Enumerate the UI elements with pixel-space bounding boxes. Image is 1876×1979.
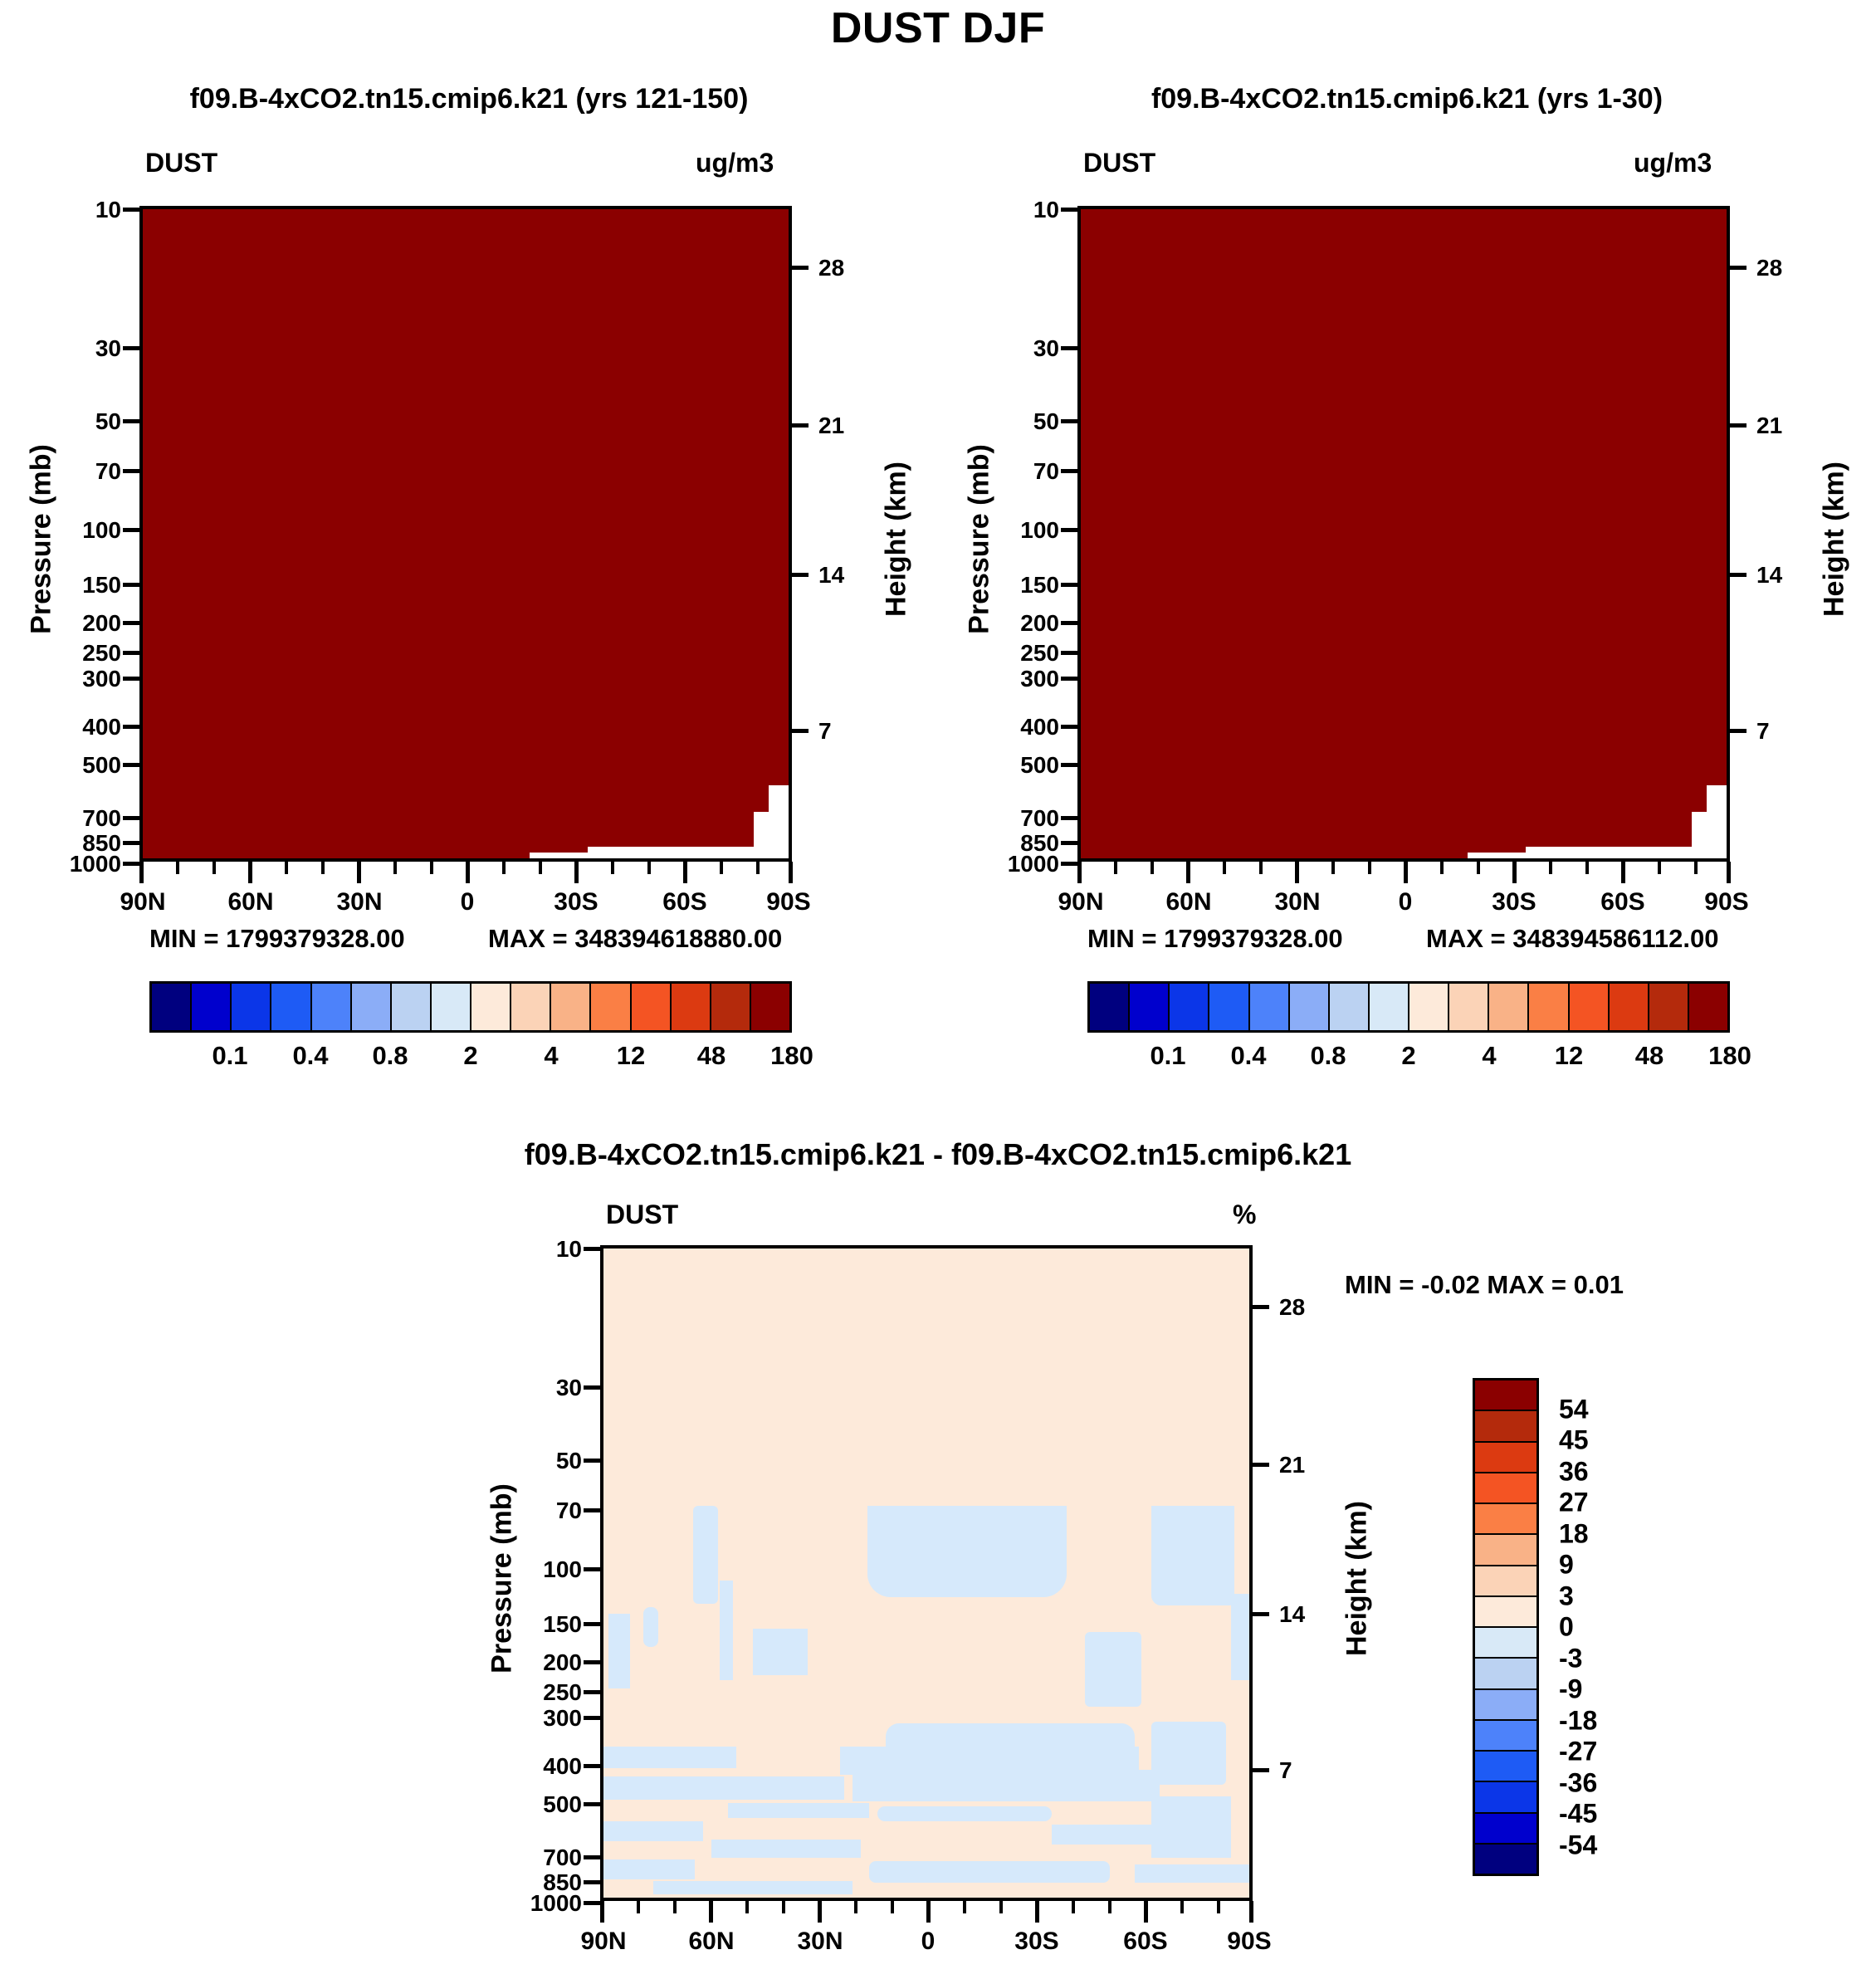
y2tick-mark <box>790 729 809 733</box>
xtick-minor <box>999 1901 1003 1913</box>
xtick-90S: 90S <box>1704 888 1748 916</box>
negative-anomaly-patch <box>603 1747 736 1768</box>
ytick-70: 70 <box>988 458 1059 485</box>
ytick-mark <box>1061 621 1079 625</box>
xtick-90N: 90N <box>580 1928 626 1956</box>
negative-anomaly-patch <box>1151 1722 1226 1785</box>
xtick-minor <box>1223 862 1226 874</box>
colorbar-boundary-label: 27 <box>1559 1488 1589 1518</box>
negative-anomaly-patch <box>753 1629 808 1675</box>
xtick-minor <box>720 862 723 874</box>
colorbar-cell-14 <box>1649 984 1689 1030</box>
cbar-label: 0.4 <box>292 1041 328 1071</box>
panel-difference: f09.B-4xCO2.tn15.cmip6.k21 - f09.B-4xCO2… <box>0 1112 1876 1979</box>
xtick-minor <box>745 1901 749 1913</box>
ytick-mark <box>123 583 141 587</box>
ytick-mark <box>123 841 141 845</box>
ytick-400: 400 <box>501 1753 582 1780</box>
missing-data-wedge <box>1707 785 1727 858</box>
ytick-mark <box>1061 677 1079 681</box>
xtick-minor <box>430 862 433 874</box>
xtick-90S: 90S <box>1227 1928 1271 1956</box>
xtick-30S: 30S <box>554 888 598 916</box>
colorbar-cell-5 <box>1290 984 1330 1030</box>
cbar-label: 0.1 <box>212 1041 247 1071</box>
y2tick-28: 28 <box>1756 255 1815 281</box>
xtick-minor <box>1549 862 1552 874</box>
ytick-mark <box>584 1901 602 1905</box>
ytick-mark <box>123 651 141 655</box>
ytick-mark <box>584 1567 602 1571</box>
ytick-10: 10 <box>511 1236 582 1263</box>
colorbar-boundary-label: 54 <box>1559 1394 1589 1424</box>
ytick-30: 30 <box>50 335 121 362</box>
colorbar-cell-1 <box>1475 1411 1536 1442</box>
panel-difference-minmax: MIN = -0.02 MAX = 0.01 <box>1345 1270 1624 1300</box>
panel-top-left-y2label: Height (km) <box>881 415 913 664</box>
xtick-minor <box>393 862 397 874</box>
negative-anomaly-patch <box>711 1840 861 1858</box>
colorbar-cell-6 <box>1475 1566 1536 1597</box>
ytick-mark <box>123 763 141 767</box>
y2tick-mark <box>1251 1305 1269 1309</box>
colorbar-cell-8 <box>1409 984 1449 1030</box>
colorbar-cell-11 <box>591 984 631 1030</box>
ytick-700: 700 <box>40 805 121 832</box>
ytick-400: 400 <box>978 714 1059 740</box>
xtick-mark <box>600 1901 604 1923</box>
xtick-minor <box>321 862 325 874</box>
colorbar-cell-10 <box>1475 1690 1536 1721</box>
negative-anomaly-patch <box>608 1614 630 1688</box>
negative-anomaly-patch <box>1231 1594 1253 1680</box>
ytick-500: 500 <box>978 752 1059 779</box>
cbar-label: 180 <box>770 1041 813 1071</box>
negative-anomaly-patch <box>1151 1796 1231 1858</box>
ytick-300: 300 <box>40 666 121 692</box>
cbar-label: 48 <box>1635 1041 1663 1071</box>
ytick-300: 300 <box>978 666 1059 692</box>
xtick-mark <box>683 862 687 883</box>
colorbar-cell-8 <box>471 984 511 1030</box>
panel-top-left-title: f09.B-4xCO2.tn15.cmip6.k21 (yrs 121-150) <box>0 83 938 115</box>
ytick-mark <box>584 1385 602 1390</box>
y2tick-21: 21 <box>1756 413 1815 439</box>
xtick-90N: 90N <box>1058 888 1103 916</box>
y2tick-mark <box>1251 1612 1269 1616</box>
xtick-minor <box>285 862 288 874</box>
xtick-minor <box>963 1901 966 1913</box>
ytick-mark <box>584 1880 602 1884</box>
ytick-70: 70 <box>50 458 121 485</box>
xtick-mark <box>709 1901 713 1923</box>
y2tick-mark <box>1728 266 1747 270</box>
ytick-mark <box>584 1855 602 1859</box>
ytick-mark <box>584 1247 602 1251</box>
xtick-60S: 60S <box>662 888 706 916</box>
panel-top-right-ylabel: Pressure (mb) <box>964 415 996 664</box>
xtick-minor <box>1331 862 1335 874</box>
xtick-minor <box>673 1901 677 1913</box>
cbar-label: 0.4 <box>1230 1041 1266 1071</box>
negative-anomaly-patch <box>720 1581 733 1680</box>
ytick-mark <box>1061 469 1079 473</box>
ytick-mark <box>123 816 141 820</box>
panel-difference-ylabel: Pressure (mb) <box>486 1454 519 1703</box>
xtick-mark <box>1621 862 1625 883</box>
xtick-mark <box>1512 862 1517 883</box>
xtick-mark <box>789 862 793 883</box>
colorbar-cell-13 <box>1475 1782 1536 1813</box>
xtick-mark <box>574 862 579 883</box>
negative-anomaly-patch <box>1085 1632 1141 1707</box>
ytick-mark <box>584 1690 602 1694</box>
xtick-minor <box>1477 862 1480 874</box>
colorbar-cell-4 <box>1250 984 1290 1030</box>
y2tick-mark <box>790 573 809 577</box>
panel-top-right-min: MIN = 1799379328.00 <box>1087 924 1343 954</box>
xtick-minor <box>539 862 542 874</box>
panel-top-right-var-label: DUST <box>1083 148 1155 178</box>
colorbar-boundary-label: -3 <box>1559 1643 1582 1674</box>
y2tick-28: 28 <box>1279 1294 1337 1321</box>
colorbar-cell-9 <box>1475 1659 1536 1689</box>
xtick-minor <box>891 1901 894 1913</box>
cbar-label: 2 <box>463 1041 477 1071</box>
xtick-30N: 30N <box>797 1928 843 1956</box>
ytick-1000: 1000 <box>963 851 1059 877</box>
colorbar-boundary-label: -54 <box>1559 1830 1597 1860</box>
cbar-label: 180 <box>1708 1041 1751 1071</box>
y2tick-14: 14 <box>1756 562 1815 589</box>
ytick-mark <box>1061 583 1079 587</box>
colorbar-cell-1 <box>192 984 232 1030</box>
xtick-mark <box>926 1901 931 1923</box>
ytick-50: 50 <box>50 408 121 435</box>
cbar-label: 0.8 <box>1310 1041 1346 1071</box>
y2tick-21: 21 <box>818 413 877 439</box>
xtick-minor <box>782 1901 785 1913</box>
panel-top-left-min: MIN = 1799379328.00 <box>149 924 405 954</box>
panel-top-left-var-label: DUST <box>145 148 217 178</box>
xtick-0: 0 <box>1399 888 1413 916</box>
xtick-mark <box>466 862 470 883</box>
panel-top-left-ylabel: Pressure (mb) <box>26 415 58 664</box>
colorbar-boundary-label: -18 <box>1559 1705 1597 1736</box>
missing-data-wedge <box>769 785 789 858</box>
dust-field-saturated <box>143 209 789 858</box>
xtick-minor <box>1072 1901 1075 1913</box>
colorbar-boundary-label: 36 <box>1559 1456 1589 1487</box>
xtick-minor <box>1585 862 1589 874</box>
xtick-30S: 30S <box>1492 888 1536 916</box>
y2tick-mark <box>1251 1463 1269 1467</box>
ytick-mark <box>1061 651 1079 655</box>
negative-anomaly-patch <box>869 1861 1110 1883</box>
ytick-mark <box>1061 346 1079 350</box>
panel-top-left-plot-area <box>139 206 792 862</box>
panel-top-left: f09.B-4xCO2.tn15.cmip6.k21 (yrs 121-150)… <box>0 0 938 1104</box>
ytick-mark <box>584 1508 602 1512</box>
colorbar-top-right[interactable] <box>1087 981 1730 1033</box>
negative-anomaly-patch <box>853 1770 1160 1801</box>
xtick-30S: 30S <box>1014 1928 1058 1956</box>
xtick-mark <box>818 1901 822 1923</box>
panel-top-right: f09.B-4xCO2.tn15.cmip6.k21 (yrs 1-30) DU… <box>938 0 1876 1104</box>
colorbar-cell-0 <box>1090 984 1130 1030</box>
colorbar-cell-12 <box>1475 1752 1536 1782</box>
xtick-minor <box>502 862 506 874</box>
panel-difference-var-label: DUST <box>606 1200 678 1230</box>
ytick-mark <box>1061 763 1079 767</box>
colorbar-cell-10 <box>1489 984 1529 1030</box>
missing-data-strip-2 <box>1468 853 1526 858</box>
ytick-300: 300 <box>501 1705 582 1732</box>
missing-data-wedge-step <box>1692 812 1707 858</box>
cbar-label: 0.1 <box>1150 1041 1185 1071</box>
colorbar-cell-11 <box>1475 1721 1536 1752</box>
negative-anomaly-patch <box>603 1821 703 1841</box>
colorbar-cell-14 <box>711 984 751 1030</box>
colorbar-cell-2 <box>1170 984 1209 1030</box>
xtick-90N: 90N <box>120 888 165 916</box>
ytick-mark <box>1061 725 1079 729</box>
colorbar-boundary-label: 45 <box>1559 1425 1589 1456</box>
colorbar-cell-1 <box>1130 984 1170 1030</box>
xtick-0: 0 <box>461 888 475 916</box>
xtick-mark <box>1727 862 1731 883</box>
colorbar-cell-15 <box>1475 1845 1536 1874</box>
ytick-30: 30 <box>988 335 1059 362</box>
xtick-mark <box>1186 862 1190 883</box>
xtick-mark <box>1035 1901 1039 1923</box>
y2tick-28: 28 <box>818 255 877 281</box>
ytick-mark <box>123 528 141 532</box>
panel-top-right-plot-area <box>1077 206 1730 862</box>
colorbar-cell-6 <box>1330 984 1370 1030</box>
colorbar-cell-15 <box>751 984 789 1030</box>
xtick-minor <box>1151 862 1154 874</box>
xtick-minor <box>1259 862 1263 874</box>
xtick-minor <box>1658 862 1661 874</box>
colorbar-cell-0 <box>1475 1380 1536 1411</box>
xtick-minor <box>1108 1901 1111 1913</box>
ytick-mark <box>123 862 141 866</box>
xtick-mark <box>1077 862 1082 883</box>
colorbar-boundary-label: 9 <box>1559 1550 1574 1581</box>
colorbar-cell-0 <box>152 984 192 1030</box>
xtick-30N: 30N <box>336 888 382 916</box>
colorbar-boundary-label: 0 <box>1559 1612 1574 1643</box>
xtick-mark <box>248 862 252 883</box>
xtick-minor <box>756 862 760 874</box>
ytick-1000: 1000 <box>25 851 121 877</box>
colorbar-cell-10 <box>551 984 591 1030</box>
ytick-mark <box>584 1622 602 1626</box>
panel-difference-plot-area <box>600 1245 1253 1901</box>
colorbar-cell-9 <box>1449 984 1489 1030</box>
ytick-mark <box>584 1716 602 1720</box>
xtick-30N: 30N <box>1274 888 1320 916</box>
missing-data-wedge-step <box>754 812 769 858</box>
y2tick-mark <box>790 266 809 270</box>
y2tick-mark <box>790 423 809 428</box>
ytick-mark <box>123 208 141 212</box>
colorbar-cell-7 <box>432 984 471 1030</box>
cbar-label: 4 <box>544 1041 558 1071</box>
negative-anomaly-patch <box>1151 1506 1234 1605</box>
y2tick-7: 7 <box>1279 1757 1337 1784</box>
colorbar-boundary-label: 18 <box>1559 1518 1589 1549</box>
panel-difference-units-label: % <box>1233 1200 1256 1230</box>
colorbar-cell-12 <box>1570 984 1610 1030</box>
xtick-minor <box>637 1901 640 1913</box>
ytick-mark <box>123 621 141 625</box>
colorbar-cell-3 <box>271 984 311 1030</box>
ytick-mark <box>123 346 141 350</box>
cbar-label: 0.8 <box>372 1041 408 1071</box>
panel-top-right-title: f09.B-4xCO2.tn15.cmip6.k21 (yrs 1-30) <box>938 83 1876 115</box>
colorbar-boundary-label: 3 <box>1559 1581 1574 1611</box>
xtick-minor <box>1114 862 1117 874</box>
y2tick-mark <box>1251 1768 1269 1772</box>
colorbar-top-left[interactable] <box>149 981 792 1033</box>
y2tick-7: 7 <box>1756 718 1815 745</box>
colorbar-cell-3 <box>1475 1473 1536 1504</box>
colorbar-cell-5 <box>1475 1535 1536 1566</box>
negative-anomaly-patch <box>867 1506 1067 1597</box>
ytick-mark <box>1061 816 1079 820</box>
ytick-700: 700 <box>978 805 1059 832</box>
ytick-1000: 1000 <box>486 1890 582 1917</box>
ytick-400: 400 <box>40 714 121 740</box>
colorbar-cell-2 <box>232 984 271 1030</box>
panel-difference-title: f09.B-4xCO2.tn15.cmip6.k21 - f09.B-4xCO2… <box>0 1137 1876 1172</box>
xtick-0: 0 <box>921 1928 936 1956</box>
cbar-label: 2 <box>1401 1041 1415 1071</box>
ytick-mark <box>123 677 141 681</box>
negative-anomaly-patch <box>1135 1864 1253 1883</box>
xtick-minor <box>1368 862 1371 874</box>
colorbar-cell-6 <box>392 984 432 1030</box>
panel-top-right-max: MAX = 348394586112.00 <box>1426 924 1719 954</box>
colorbar-cell-8 <box>1475 1628 1536 1659</box>
colorbar-cell-5 <box>352 984 392 1030</box>
colorbar-cell-9 <box>511 984 551 1030</box>
xtick-mark <box>1404 862 1408 883</box>
colorbar-cell-4 <box>1475 1504 1536 1535</box>
colorbar-cell-7 <box>1370 984 1409 1030</box>
ytick-mark <box>1061 841 1079 845</box>
xtick-90S: 90S <box>766 888 810 916</box>
ytick-70: 70 <box>511 1498 582 1524</box>
cbar-label: 48 <box>697 1041 725 1071</box>
panel-difference-y2label: Height (km) <box>1341 1454 1374 1703</box>
cbar-label: 12 <box>617 1041 645 1071</box>
ytick-mark <box>1061 208 1079 212</box>
ytick-500: 500 <box>501 1791 582 1818</box>
colorbar-cell-2 <box>1475 1443 1536 1473</box>
colorbar-cell-13 <box>672 984 711 1030</box>
ytick-mark <box>584 1764 602 1768</box>
negative-anomaly-patch <box>653 1881 853 1894</box>
y2tick-7: 7 <box>818 718 877 745</box>
y2tick-mark <box>1728 729 1747 733</box>
colorbar-cell-4 <box>312 984 352 1030</box>
xtick-60S: 60S <box>1600 888 1644 916</box>
xtick-minor <box>1694 862 1698 874</box>
xtick-60N: 60N <box>1165 888 1211 916</box>
missing-data-strip <box>1526 847 1692 858</box>
cbar-label: 4 <box>1482 1041 1496 1071</box>
colorbar-cell-15 <box>1689 984 1727 1030</box>
negative-anomaly-patch <box>1052 1825 1151 1845</box>
xtick-minor <box>176 862 179 874</box>
panel-top-right-units-label: ug/m3 <box>1634 148 1712 178</box>
colorbar-difference-inline[interactable] <box>1473 1378 1539 1876</box>
xtick-minor <box>1440 862 1444 874</box>
ytick-30: 30 <box>511 1375 582 1401</box>
ytick-mark <box>584 1459 602 1463</box>
negative-anomaly-patch <box>603 1859 695 1879</box>
negative-anomaly-patch <box>728 1803 869 1818</box>
xtick-mark <box>357 862 361 883</box>
panel-top-right-y2label: Height (km) <box>1819 415 1851 664</box>
ytick-mark <box>1061 528 1079 532</box>
colorbar-cell-14 <box>1475 1814 1536 1845</box>
xtick-mark <box>1144 1901 1148 1923</box>
ytick-10: 10 <box>50 197 121 223</box>
colorbar-boundary-label: -36 <box>1559 1767 1597 1798</box>
ytick-mark <box>584 1802 602 1806</box>
ytick-mark <box>584 1660 602 1664</box>
ytick-mark <box>1061 419 1079 423</box>
colorbar-boundary-label: -45 <box>1559 1799 1597 1830</box>
missing-data-strip-2 <box>530 853 588 858</box>
xtick-minor <box>854 1901 857 1913</box>
y2tick-mark <box>1728 423 1747 428</box>
negative-anomaly-patch <box>643 1607 658 1647</box>
dust-field-saturated <box>1081 209 1727 858</box>
colorbar-boundary-label: -9 <box>1559 1674 1582 1705</box>
y2tick-14: 14 <box>818 562 877 589</box>
negative-anomaly-patch <box>693 1506 718 1604</box>
y2tick-mark <box>1728 573 1747 577</box>
panel-top-left-max: MAX = 348394618880.00 <box>488 924 782 954</box>
ytick-mark <box>1061 862 1079 866</box>
xtick-minor <box>647 862 651 874</box>
xtick-60N: 60N <box>688 1928 734 1956</box>
xtick-mark <box>1295 862 1299 883</box>
colorbar-boundary-label: -27 <box>1559 1737 1597 1767</box>
cbar-label: 12 <box>1555 1041 1583 1071</box>
xtick-minor <box>611 862 614 874</box>
negative-anomaly-patch <box>603 1776 844 1800</box>
ytick-mark <box>123 469 141 473</box>
xtick-mark <box>139 862 144 883</box>
y2tick-14: 14 <box>1279 1601 1337 1628</box>
xtick-minor <box>1180 1901 1184 1913</box>
colorbar-cell-7 <box>1475 1597 1536 1628</box>
negative-anomaly-patch <box>877 1806 1052 1821</box>
colorbar-cell-12 <box>632 984 672 1030</box>
ytick-10: 10 <box>988 197 1059 223</box>
missing-data-strip <box>588 847 754 858</box>
panel-top-left-units-label: ug/m3 <box>696 148 774 178</box>
ytick-500: 500 <box>40 752 121 779</box>
ytick-700: 700 <box>501 1845 582 1871</box>
ytick-50: 50 <box>511 1448 582 1474</box>
